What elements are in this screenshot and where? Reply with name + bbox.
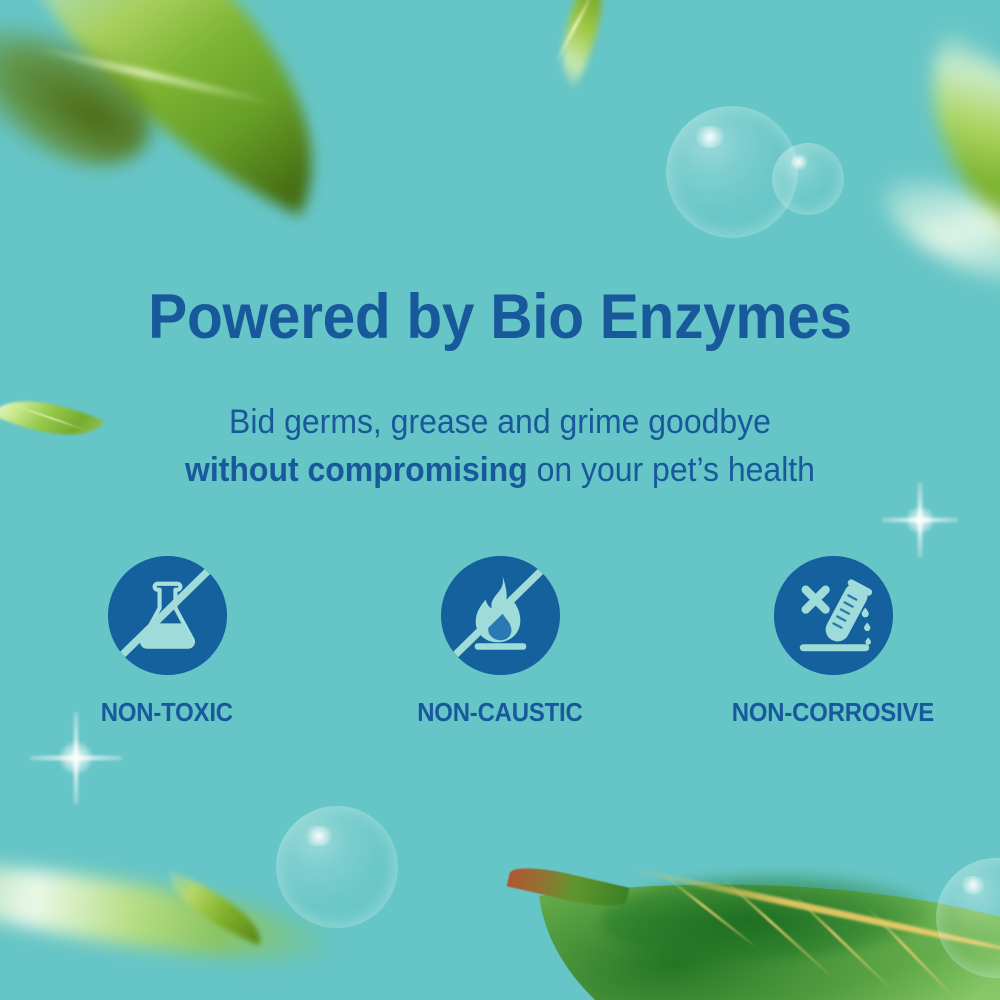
badge-label-non-caustic: NON-CAUSTIC [417, 697, 582, 728]
badge-non-corrosive: NON-CORROSIVE [758, 556, 908, 728]
subheadline-emphasis: without compromising [185, 451, 528, 489]
badge-label-non-corrosive: NON-CORROSIVE [732, 697, 934, 728]
flask-no-entry-icon [108, 556, 227, 675]
flame-no-entry-icon [441, 556, 560, 675]
corrosion-x-icon [774, 556, 893, 675]
promo-banner: Powered by Bio Enzymes Bid germs, grease… [0, 0, 1000, 1000]
headline: Powered by Bio Enzymes [35, 286, 965, 349]
banner-content: Powered by Bio Enzymes Bid germs, grease… [0, 0, 1000, 1000]
badge-label-non-toxic: NON-TOXIC [101, 697, 233, 728]
badge-non-caustic: NON-CAUSTIC [425, 556, 575, 728]
benefit-badge-list: NON-TOXIC [0, 556, 1000, 728]
subheadline-line-2: without compromising on your pet’s healt… [30, 448, 970, 493]
subheadline-line-2-rest: on your pet’s health [528, 451, 815, 489]
subheadline-line-1: Bid germs, grease and grime goodbye [30, 400, 970, 445]
badge-non-toxic: NON-TOXIC [92, 556, 242, 728]
